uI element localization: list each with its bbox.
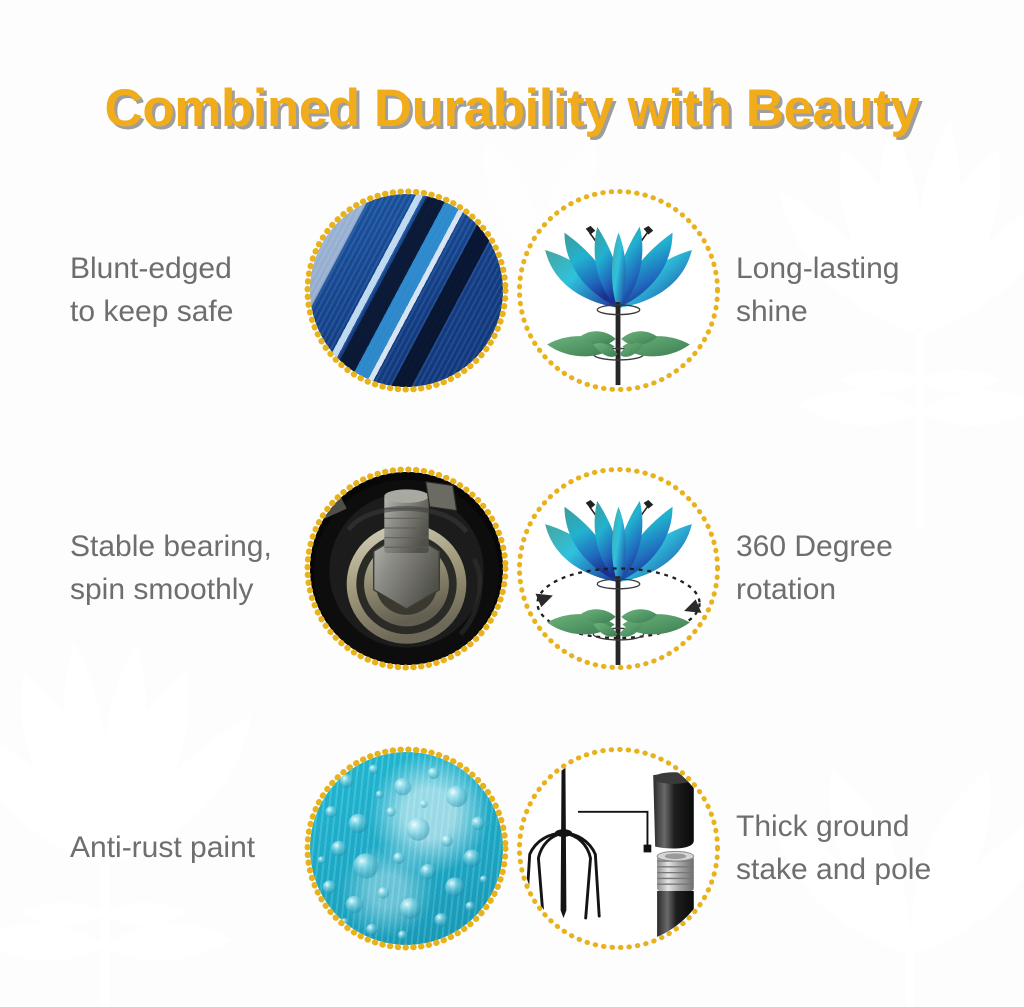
feature-label-blunt-edged: Blunt-edged to keep safe — [0, 247, 300, 334]
feature-label-line: spin smoothly — [70, 568, 300, 612]
feature-label-line: 360 Degree — [736, 525, 1024, 569]
feature-label-line: Thick ground — [736, 805, 1024, 849]
feature-label-line: Anti-rust paint — [70, 826, 300, 870]
feature-media-stake-pole — [512, 746, 724, 951]
feature-media-water-droplets — [300, 746, 512, 951]
feature-label-anti-rust-paint: Anti-rust paint — [0, 826, 300, 870]
feature-label-thick-ground-stake: Thick ground stake and pole — [724, 805, 1024, 892]
feature-label-stable-bearing: Stable bearing, spin smoothly — [0, 525, 300, 612]
page-title-container: Combined Durability with Beauty — [0, 42, 1024, 174]
feature-media-blue-paint-edge — [300, 188, 512, 393]
wind-spinner-rotation-diagram — [522, 472, 715, 665]
feature-label-line: stake and pole — [736, 848, 1024, 892]
bearing-bolt-photo — [310, 472, 503, 665]
page-title: Combined Durability with Beauty — [105, 78, 920, 139]
feature-media-rotation-diagram — [512, 466, 724, 671]
ground-stake-pole-diagram — [522, 752, 715, 945]
feature-label-line: Stable bearing, — [70, 525, 300, 569]
wind-spinner-product — [522, 194, 715, 387]
feature-label-line: rotation — [736, 568, 1024, 612]
feature-row-3: Anti-rust paint — [0, 738, 1024, 958]
feature-label-long-lasting-shine: Long-lasting shine — [724, 247, 1024, 334]
feature-label-line: Long-lasting — [736, 247, 1024, 291]
feature-label-line: to keep safe — [70, 290, 300, 334]
feature-media-wind-spinner-product — [512, 188, 724, 393]
feature-row-2: Stable bearing, spin smoothly — [0, 458, 1024, 678]
feature-label-line: shine — [736, 290, 1024, 334]
feature-media-bearing — [300, 466, 512, 671]
blue-paint-edge-photo — [310, 194, 503, 387]
feature-row-1: Blunt-edged to keep safe — [0, 180, 1024, 400]
water-droplets-photo — [310, 752, 503, 945]
feature-label-360-rotation: 360 Degree rotation — [724, 525, 1024, 612]
feature-label-line: Blunt-edged — [70, 247, 300, 291]
infographic-page: Combined Durability with Beauty Blunt-ed… — [0, 0, 1024, 1007]
